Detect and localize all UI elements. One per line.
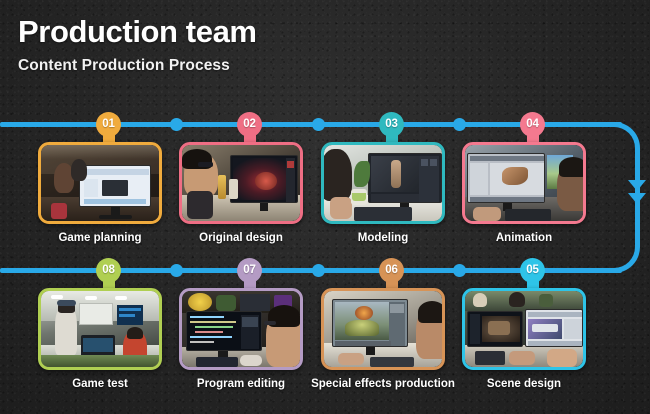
rail-dot [453, 118, 466, 131]
step-caption-06: Special effects production [307, 378, 459, 390]
step-card-05[interactable] [462, 288, 586, 370]
page-title: Production team [18, 16, 257, 49]
step-number: 04 [520, 112, 545, 135]
rail-dot [312, 118, 325, 131]
slide-canvas: Production team Content Production Proce… [0, 0, 650, 414]
step-card-06[interactable] [321, 288, 445, 370]
page-subtitle: Content Production Process [18, 57, 257, 75]
step-caption-03: Modeling [321, 232, 445, 244]
step-number: 06 [379, 258, 404, 281]
step-number: 05 [520, 258, 545, 281]
rail-dot [453, 264, 466, 277]
step-number: 08 [96, 258, 121, 281]
step-card-04[interactable] [462, 142, 586, 224]
photo-game-test [41, 291, 159, 367]
photo-program-editing [182, 291, 300, 367]
step-number: 07 [237, 258, 262, 281]
step-caption-05: Scene design [462, 378, 586, 390]
step-caption-08: Game test [38, 378, 162, 390]
step-card-02[interactable] [179, 142, 303, 224]
rail-dot [170, 118, 183, 131]
step-caption-02: Original design [179, 232, 303, 244]
step-card-07[interactable] [179, 288, 303, 370]
step-caption-07: Program editing [179, 378, 303, 390]
photo-game-planning [41, 145, 159, 221]
triangle-down-icon [628, 193, 646, 204]
triangle-down-icon [628, 180, 646, 191]
rail-dot [312, 264, 325, 277]
step-number: 03 [379, 112, 404, 135]
photo-scene-design [465, 291, 583, 367]
step-caption-04: Animation [462, 232, 586, 244]
photo-animation [465, 145, 583, 221]
step-card-08[interactable] [38, 288, 162, 370]
rail-dot [170, 264, 183, 277]
photo-special-effects [324, 291, 442, 367]
step-caption-01: Game planning [38, 232, 162, 244]
step-number: 01 [96, 112, 121, 135]
header: Production team Content Production Proce… [18, 16, 257, 75]
photo-original-design [182, 145, 300, 221]
step-card-03[interactable] [321, 142, 445, 224]
step-card-01[interactable] [38, 142, 162, 224]
photo-modeling [324, 145, 442, 221]
step-number: 02 [237, 112, 262, 135]
